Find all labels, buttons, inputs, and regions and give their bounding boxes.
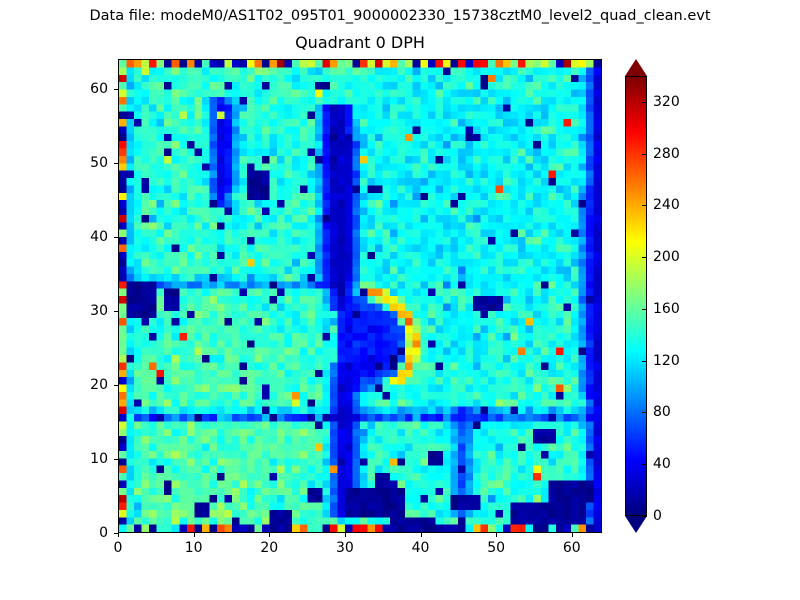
y-tick-label: 20 — [64, 377, 108, 393]
y-tick-label: 10 — [64, 451, 108, 467]
x-tick-mark — [118, 533, 119, 537]
y-tick-label: 50 — [64, 155, 108, 171]
x-tick-label: 50 — [476, 540, 516, 556]
x-tick-mark — [345, 533, 346, 537]
y-tick-label: 0 — [64, 525, 108, 541]
colorbar-tick-mark — [642, 257, 647, 258]
colorbar-tick-label: 200 — [653, 249, 680, 265]
colorbar-gradient[interactable] — [625, 76, 647, 516]
colorbar-tick-label: 160 — [653, 301, 680, 317]
colorbar-tick-label: 120 — [653, 353, 680, 369]
y-tick-mark — [114, 459, 118, 460]
colorbar-tick-label: 280 — [653, 146, 680, 162]
colorbar-tick-mark — [642, 464, 647, 465]
colorbar-tick-mark — [642, 309, 647, 310]
colorbar-canvas — [626, 77, 646, 515]
y-tick-mark — [114, 163, 118, 164]
colorbar-tick-label: 80 — [653, 404, 671, 420]
y-tick-mark — [114, 89, 118, 90]
x-tick-mark — [194, 533, 195, 537]
colorbar-tick-mark — [642, 205, 647, 206]
colorbar-tick-label: 320 — [653, 94, 680, 110]
x-tick-label: 10 — [174, 540, 214, 556]
y-tick-mark — [114, 311, 118, 312]
colorbar-tick-mark — [642, 412, 647, 413]
x-tick-mark — [269, 533, 270, 537]
x-tick-mark — [421, 533, 422, 537]
x-tick-mark — [496, 533, 497, 537]
page-title: Quadrant 0 DPH — [118, 33, 602, 53]
colorbar-tick-label: 40 — [653, 456, 671, 472]
colorbar-tick-mark — [642, 102, 647, 103]
y-tick-mark — [114, 533, 118, 534]
heatmap-image[interactable] — [119, 60, 601, 532]
heatmap-axes[interactable] — [118, 59, 602, 533]
y-tick-mark — [114, 237, 118, 238]
colorbar-tick-label: 240 — [653, 197, 680, 213]
x-tick-label: 60 — [552, 540, 592, 556]
y-tick-label: 60 — [64, 81, 108, 97]
colorbar-tick-mark — [642, 516, 647, 517]
colorbar-tick-label: 0 — [653, 508, 662, 524]
colorbar[interactable] — [625, 59, 647, 533]
x-tick-label: 0 — [98, 540, 138, 556]
figure-canvas: Data file: modeM0/AS1T02_095T01_90000023… — [0, 0, 800, 600]
colorbar-tick-mark — [642, 361, 647, 362]
colorbar-tick-mark — [642, 154, 647, 155]
x-tick-label: 40 — [401, 540, 441, 556]
x-tick-mark — [572, 533, 573, 537]
figure-suptitle: Data file: modeM0/AS1T02_095T01_90000023… — [0, 7, 800, 25]
y-tick-mark — [114, 385, 118, 386]
colorbar-extend-max-arrow — [625, 59, 647, 76]
x-tick-label: 20 — [249, 540, 289, 556]
y-tick-label: 30 — [64, 303, 108, 319]
x-tick-label: 30 — [325, 540, 365, 556]
y-tick-label: 40 — [64, 229, 108, 245]
colorbar-extend-min-arrow — [625, 516, 647, 533]
